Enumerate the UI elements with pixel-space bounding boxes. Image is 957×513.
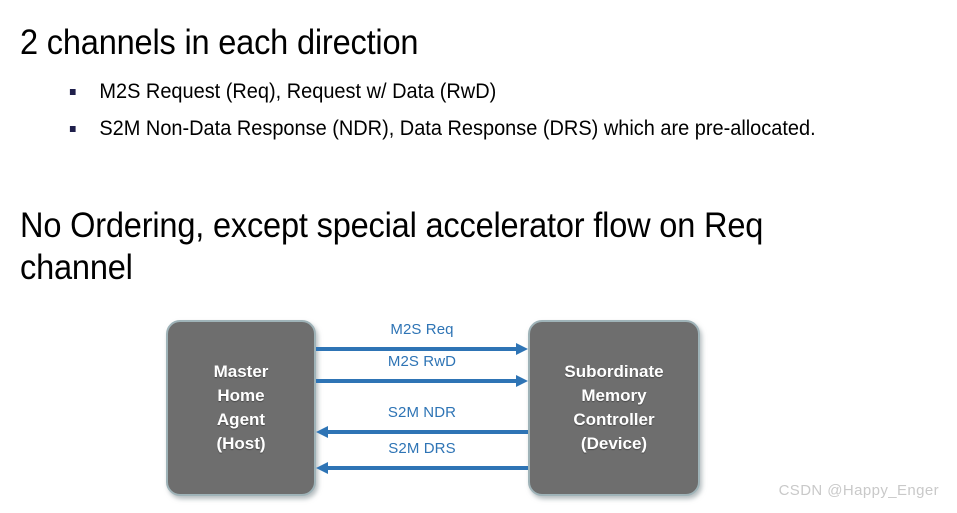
flow-m2s-rwd: M2S RwD bbox=[316, 353, 528, 387]
node-master-home-agent-label: Master Home Agent (Host) bbox=[214, 360, 269, 456]
flow-s2m-ndr: S2M NDR bbox=[316, 404, 528, 438]
node-master-home-agent: Master Home Agent (Host) bbox=[166, 320, 316, 496]
flow-s2m-ndr-label: S2M NDR bbox=[316, 404, 528, 422]
flow-s2m-drs: S2M DRS bbox=[316, 440, 528, 474]
flow-m2s-req-label: M2S Req bbox=[316, 321, 528, 339]
flow-m2s-req: M2S Req bbox=[316, 321, 528, 355]
flow-m2s-rwd-label: M2S RwD bbox=[316, 353, 528, 371]
arrow-left-icon bbox=[316, 460, 528, 474]
node-subordinate-memory-controller: Subordinate Memory Controller (Device) bbox=[528, 320, 700, 496]
arrow-right-icon bbox=[316, 373, 528, 387]
watermark: CSDN @Happy_Enger bbox=[779, 482, 939, 499]
arrow-left-icon bbox=[316, 424, 528, 438]
node-subordinate-memory-controller-label: Subordinate Memory Controller (Device) bbox=[564, 360, 663, 456]
channel-flow-diagram: Master Home Agent (Host) Subordinate Mem… bbox=[0, 0, 957, 513]
flow-s2m-drs-label: S2M DRS bbox=[316, 440, 528, 458]
